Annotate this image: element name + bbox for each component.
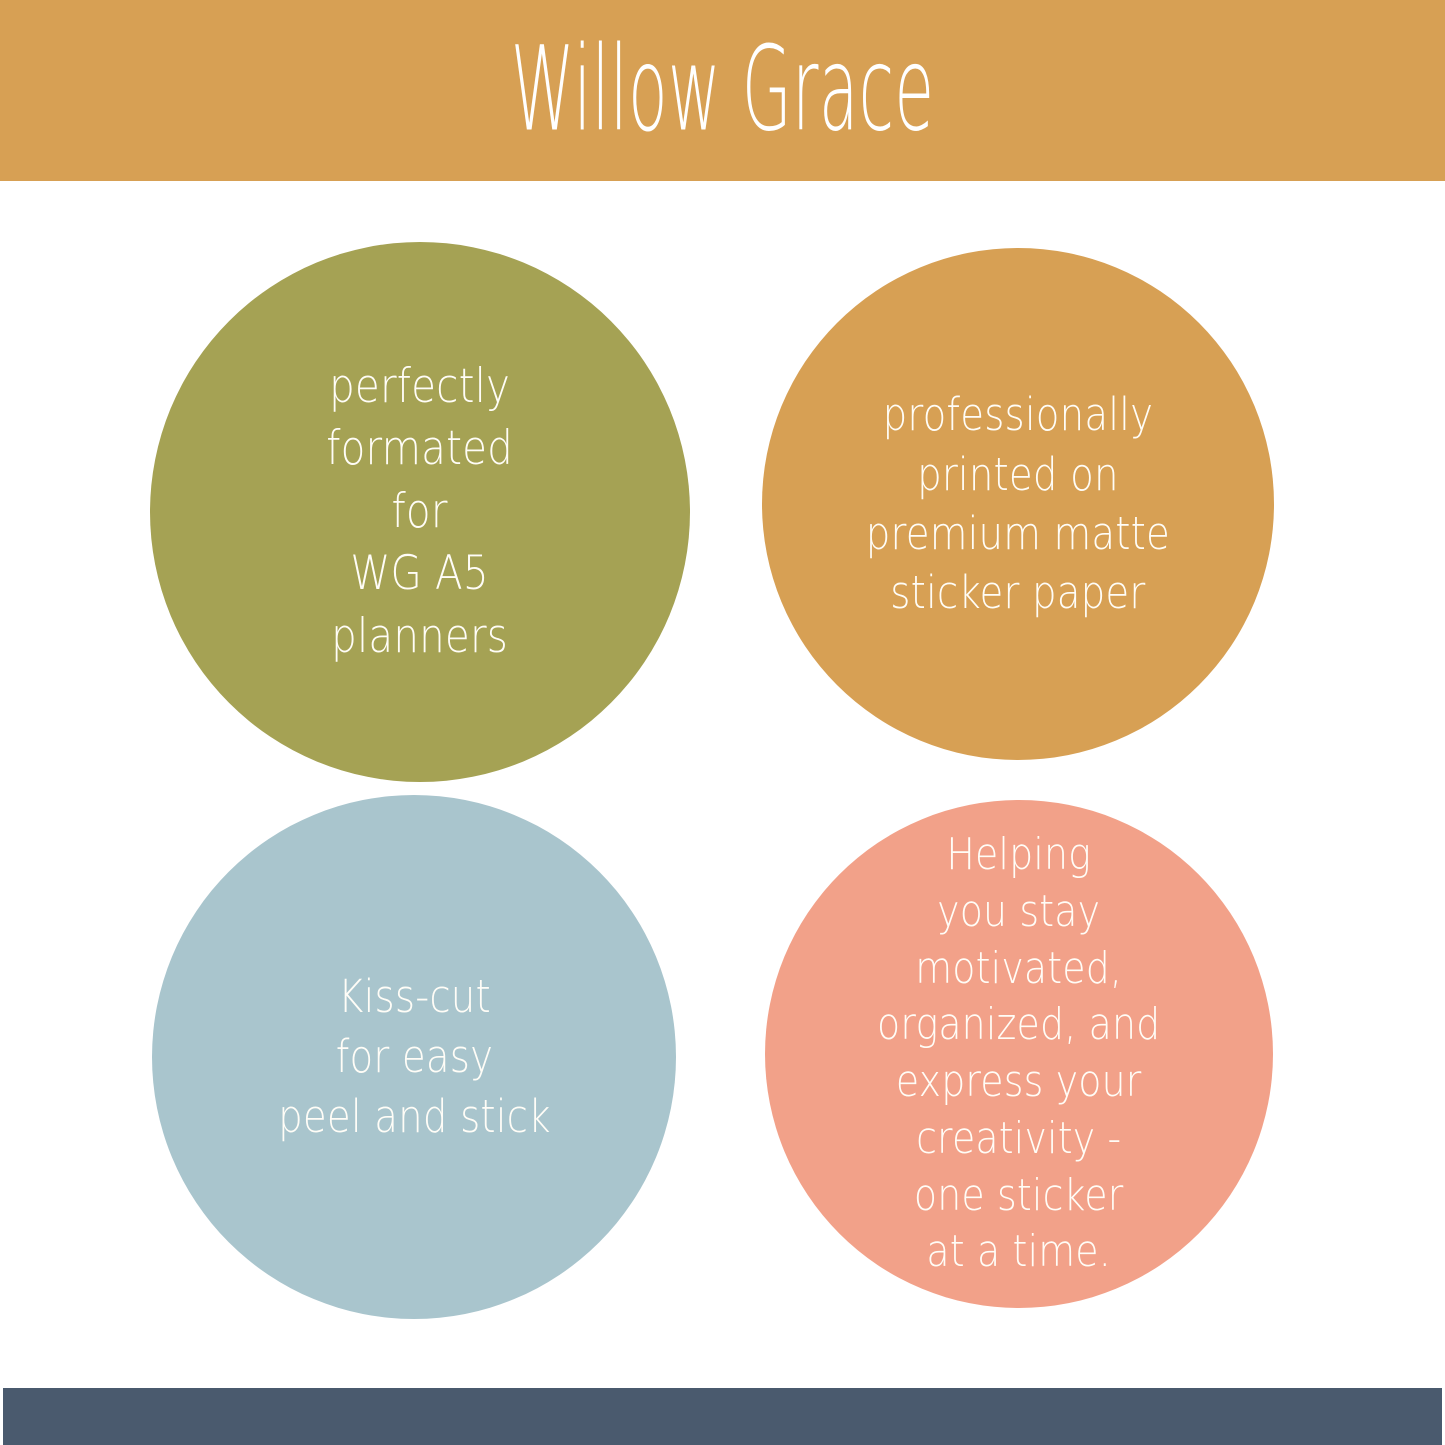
brand-title: Willow Grace: [511, 30, 935, 146]
feature-circle-kiss-cut: Kiss-cut for easy peel and stick: [152, 795, 676, 1319]
footer-band: [3, 1388, 1442, 1445]
feature-text-mission: Helping you stay motivated, organized, a…: [870, 827, 1167, 1281]
feature-circle-printing: professionally printed on premium matte …: [762, 248, 1274, 760]
feature-text-format: perfectly formated for WG A5 planners: [320, 356, 521, 669]
product-info-card: Willow Grace perfectly formated for WG A…: [0, 0, 1445, 1445]
feature-circle-format: perfectly formated for WG A5 planners: [150, 242, 690, 782]
feature-circle-mission: Helping you stay motivated, organized, a…: [765, 800, 1273, 1308]
brand-header-band: Willow Grace: [0, 0, 1445, 181]
feature-circle-grid: perfectly formated for WG A5 planners pr…: [0, 181, 1445, 1388]
feature-text-kiss-cut: Kiss-cut for easy peel and stick: [271, 967, 557, 1147]
feature-text-printing: professionally printed on premium matte …: [859, 385, 1177, 623]
